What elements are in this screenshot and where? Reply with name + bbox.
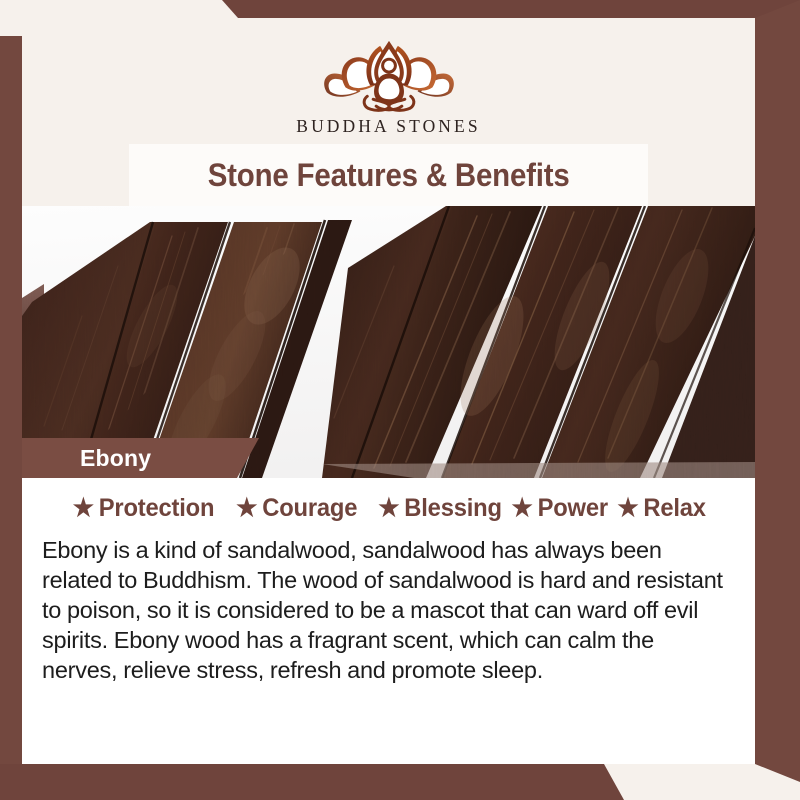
brand-header: BUDDHA STONES — [22, 22, 755, 144]
title-strip: Stone Features & Benefits — [22, 144, 755, 206]
frame-band-left — [0, 36, 22, 782]
frame-band-right — [755, 0, 800, 800]
hero-image-container: Ebony — [22, 206, 755, 478]
ebony-wood-planks-photo — [22, 206, 755, 478]
description-text: Ebony is a kind of sandalwood, sandalwoo… — [22, 527, 755, 685]
lotus-meditation-icon — [314, 34, 464, 118]
brand-name: BUDDHA STONES — [296, 116, 480, 137]
content-card: BUDDHA STONES Stone Features & Benefits — [22, 22, 755, 764]
hero-label-ribbon: Ebony — [22, 438, 259, 478]
feature-label: Courage — [262, 494, 357, 523]
star-icon: ★ — [512, 496, 533, 521]
feature-label: Blessing — [405, 494, 502, 523]
features-row: ★ Protection ★ Courage ★ Blessing ★ Powe… — [22, 478, 755, 527]
star-icon: ★ — [617, 496, 638, 521]
feature-power: ★ Power — [512, 494, 608, 523]
feature-label: Power — [538, 494, 608, 523]
feature-label: Relax — [643, 494, 705, 523]
feature-courage: ★ Courage — [236, 494, 357, 523]
feature-relax: ★ Relax — [617, 494, 705, 523]
feature-blessing: ★ Blessing — [379, 494, 503, 523]
page-title: Stone Features & Benefits — [208, 157, 570, 194]
star-icon: ★ — [379, 496, 400, 521]
hero-label-text: Ebony — [22, 445, 151, 472]
feature-label: Protection — [99, 494, 215, 523]
feature-protection: ★ Protection — [73, 494, 215, 523]
star-icon: ★ — [73, 496, 94, 521]
star-icon: ★ — [236, 496, 257, 521]
